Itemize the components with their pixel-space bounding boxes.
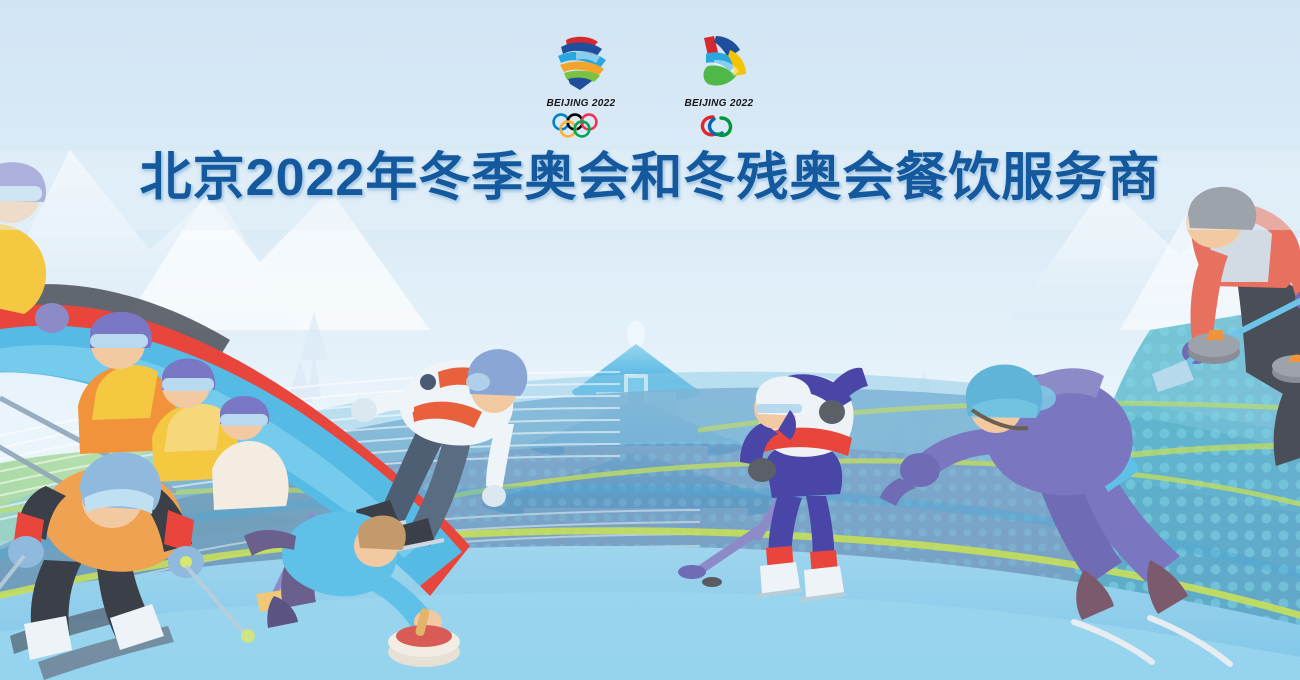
olympic-rings-icon bbox=[551, 113, 611, 139]
emblem-row: BEIJING 2022 BEIJING 20 bbox=[0, 32, 1300, 139]
olympics-banner: BEIJING 2022 BEIJING 20 bbox=[0, 0, 1300, 680]
beijing-2022-olympic-mark bbox=[546, 32, 616, 94]
olympic-wordmark: BEIJING 2022 bbox=[546, 97, 615, 109]
paralympic-emblem: BEIJING 2022 bbox=[671, 32, 767, 139]
page-title: 北京2022年冬季奥会和冬残奥会餐饮服务商 bbox=[0, 148, 1300, 208]
beijing-2022-paralympic-mark bbox=[684, 32, 754, 94]
paralympic-agitos-icon bbox=[689, 113, 749, 139]
paralympic-wordmark: BEIJING 2022 bbox=[684, 97, 753, 109]
olympic-emblem: BEIJING 2022 bbox=[533, 32, 629, 139]
